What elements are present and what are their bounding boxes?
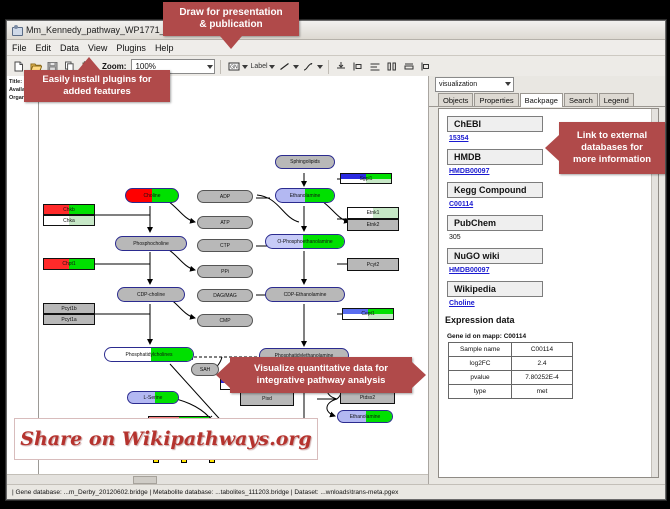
align-left-icon[interactable] (351, 59, 366, 74)
callout-plugins: Easily install plugins for added feature… (24, 70, 170, 102)
node-ethanolamine-right[interactable]: Ethanolamine (337, 410, 393, 423)
node-cdp-ethanolamine[interactable]: CDP-Ethanolamine (265, 287, 345, 302)
node-pisd[interactable]: Pisd (240, 392, 294, 406)
chevron-down-icon (207, 65, 213, 69)
table-cell-value: 2.4 (512, 357, 573, 371)
db-value-pubchem: 305 (449, 234, 658, 241)
tab-properties[interactable]: Properties (474, 93, 518, 106)
callout-link-databases: Link to external databases for more info… (559, 122, 665, 174)
line-dropdown[interactable] (277, 59, 299, 74)
node-label: Pcyt1a (61, 317, 76, 323)
node-cmp[interactable]: CMP (197, 314, 253, 327)
node-label: Chka (63, 218, 75, 224)
node-label: PPi (221, 269, 229, 275)
db-header-wikipedia: Wikipedia (447, 281, 543, 297)
side-panel-tabs: Objects Properties Backpage Search Legen… (429, 92, 665, 107)
node-label: Pcyt2 (367, 262, 380, 268)
datanode-icon[interactable]: GN (226, 59, 241, 74)
align-top-icon[interactable] (334, 59, 349, 74)
callout-visualize-line1: Visualize quantitative data for (254, 363, 388, 375)
node-ppi[interactable]: PPi (197, 265, 253, 278)
node-label: CDP-Ethanolamine (284, 292, 327, 298)
table-row: log2FC 2.4 (449, 357, 573, 371)
callout-link-line3: more information (573, 154, 651, 166)
interaction-dropdown[interactable] (301, 59, 323, 74)
expression-table: Sample name C00114 log2FC 2.4 pvalue 7.8… (448, 342, 573, 399)
node-chkb[interactable]: Chkb (43, 204, 95, 215)
tab-backpage[interactable]: Backpage (520, 93, 563, 107)
node-label: Etnk2 (367, 222, 380, 228)
menu-item-view[interactable]: View (88, 43, 107, 53)
menu-item-data[interactable]: Data (60, 43, 79, 53)
node-sphingolipids[interactable]: Sphingolipids (275, 155, 335, 169)
node-phosphatidylcholines[interactable]: Phosphatidylcholines (104, 347, 194, 362)
db-header-pubchem: PubChem (447, 215, 543, 231)
chevron-down-icon (505, 82, 511, 86)
callout-link-line2: databases for (581, 142, 643, 154)
node-label: Pcyt1b (61, 306, 76, 312)
table-row: pvalue 7.80252E-4 (449, 371, 573, 385)
callout-plugins-line2: added features (63, 86, 131, 98)
table-cell-key: log2FC (449, 357, 512, 371)
callout-plugins-arrow (78, 57, 100, 70)
node-etnk2[interactable]: Etnk2 (347, 219, 399, 231)
menu-item-plugins[interactable]: Plugins (116, 43, 146, 53)
visualization-value: visualization (439, 81, 477, 88)
tab-legend[interactable]: Legend (599, 93, 634, 106)
callout-share: Share on Wikipathways.org (14, 418, 318, 460)
node-l-serine-left[interactable]: L-Serine (127, 391, 179, 404)
node-label: Phosphocholine (133, 241, 169, 247)
node-ethanolamine[interactable]: Ethanolamine (275, 188, 335, 203)
node-chpt1[interactable]: Chpt1 (43, 258, 95, 270)
node-label: DAG/MAG (213, 293, 237, 299)
node-chka[interactable]: Chka (43, 215, 95, 226)
toolbar-separator (328, 60, 329, 74)
node-etnk1[interactable]: Etnk1 (347, 207, 399, 219)
node-label: Pisd (262, 396, 272, 402)
align-center-icon[interactable] (402, 59, 417, 74)
node-choline-top[interactable]: Choline (125, 188, 179, 203)
callout-visualize-arrow-right (412, 362, 426, 388)
node-phosphocholine[interactable]: Phosphocholine (115, 236, 187, 251)
menu-item-file[interactable]: File (12, 43, 27, 53)
node-label: ATP (220, 220, 229, 226)
table-row: type met (449, 385, 573, 399)
db-header-hmdb: HMDB (447, 149, 543, 165)
node-label: CMP (219, 318, 230, 324)
menu-item-help[interactable]: Help (155, 43, 174, 53)
visualization-row: visualization (429, 76, 665, 92)
callout-link-arrow (545, 135, 559, 161)
gene-id-label: Gene id on mapp: C00114 (447, 333, 658, 340)
node-label: ADP (220, 194, 230, 200)
table-cell-value: 7.80252E-4 (512, 371, 573, 385)
chevron-down-icon[interactable] (317, 65, 323, 69)
node-sgpl1[interactable]: Sgpl1 (340, 173, 392, 184)
status-bar: | Gene database: ...m_Derby_20120602.bri… (7, 484, 665, 499)
node-label: Chpt1 (62, 261, 75, 267)
node-adp[interactable]: ADP (197, 190, 253, 203)
callout-share-text: Share on Wikipathways.org (20, 428, 311, 450)
chevron-down-icon[interactable] (293, 65, 299, 69)
tab-search[interactable]: Search (564, 93, 598, 106)
toolbar-separator (220, 60, 221, 74)
node-label: Cept1 (361, 311, 374, 317)
node-o-phosphoethanolamine[interactable]: O-Phosphoethanolamine (265, 234, 345, 249)
menu-bar: File Edit Data View Plugins Help (7, 40, 665, 56)
node-label: Ethanolamine (350, 414, 381, 420)
callout-visualize: Visualize quantitative data for integrat… (230, 357, 412, 393)
node-label: Sphingolipids (290, 159, 320, 165)
visualization-select[interactable]: visualization (435, 77, 514, 92)
node-label: O-Phosphoethanolamine (277, 239, 332, 245)
chevron-down-icon[interactable] (269, 65, 275, 69)
canvas-horizontal-scrollbar[interactable] (7, 474, 428, 484)
node-label: Phosphatidylcholines (126, 352, 173, 358)
db-link-nugo[interactable]: HMDB00097 (449, 267, 658, 274)
title-bar: Mm_Kennedy_pathway_WP1771_45176.gpml (7, 21, 665, 40)
label-dropdown-label: Label (250, 63, 267, 70)
node-label: Ethanolamine (290, 193, 321, 199)
callout-link-line1: Link to external (577, 130, 647, 142)
node-ctp[interactable]: CTP (197, 239, 253, 252)
node-pcyt1a[interactable]: Pcyt1a (43, 314, 95, 325)
db-link-kegg[interactable]: C00114 (449, 201, 658, 208)
db-header-chebi: ChEBI (447, 116, 543, 132)
node-label: SAH (200, 367, 210, 373)
node-pcyt2[interactable]: Pcyt2 (347, 258, 399, 271)
table-row: Sample name C00114 (449, 343, 573, 357)
label-dropdown[interactable]: Label (250, 63, 274, 70)
tab-objects[interactable]: Objects (438, 93, 473, 106)
align-width-icon[interactable] (385, 59, 400, 74)
node-label: L-Serine (144, 395, 163, 401)
node-cept1[interactable]: Cept1 (342, 308, 394, 320)
svg-text:GN: GN (230, 65, 238, 71)
callout-draw-line1: Draw for presentation (179, 7, 282, 19)
expression-data-heading: Expression data (445, 315, 658, 325)
db-header-kegg: Kegg Compound (447, 182, 543, 198)
table-cell-value: C00114 (512, 343, 573, 357)
table-cell-key: Sample name (449, 343, 512, 357)
callout-draw-line2: & publication (199, 19, 262, 31)
node-sah[interactable]: SAH (191, 363, 219, 376)
node-label: CDP-choline (137, 292, 165, 298)
datanode-dropdown[interactable]: GN (226, 59, 248, 74)
align-stack-icon[interactable] (368, 59, 383, 74)
table-cell-key: pvalue (449, 371, 512, 385)
pathvisio-icon (11, 25, 22, 36)
node-label: Etnk1 (367, 210, 380, 216)
callout-visualize-arrow-left (216, 362, 230, 388)
table-cell-key: type (449, 385, 512, 399)
db-header-nugo: NuGO wiki (447, 248, 543, 264)
node-label: CTP (220, 243, 230, 249)
node-pcyt1b[interactable]: Pcyt1b (43, 303, 95, 314)
callout-draw: Draw for presentation & publication (163, 2, 299, 36)
scrollbar-thumb[interactable] (133, 476, 157, 484)
line-icon[interactable] (277, 59, 292, 74)
node-cdp-choline[interactable]: CDP-choline (117, 287, 185, 302)
screenshot-root: Mm_Kennedy_pathway_WP1771_45176.gpml Fil… (0, 0, 670, 509)
interaction-icon[interactable] (301, 59, 316, 74)
node-label: Ptdss2 (360, 395, 375, 401)
align-right-icon[interactable] (419, 59, 434, 74)
node-label: Choline (144, 193, 161, 199)
node-dag-mag[interactable]: DAG/MAG (197, 289, 253, 302)
chevron-down-icon[interactable] (242, 65, 248, 69)
callout-draw-arrow (220, 36, 242, 49)
db-link-wikipedia[interactable]: Choline (449, 300, 658, 307)
callout-visualize-line2: integrative pathway analysis (257, 375, 386, 387)
node-atp[interactable]: ATP (197, 216, 253, 229)
status-text: | Gene database: ...m_Derby_20120602.bri… (12, 489, 398, 496)
table-cell-value: met (512, 385, 573, 399)
callout-plugins-line1: Easily install plugins for (42, 74, 151, 86)
node-label: Chkb (63, 207, 75, 213)
menu-item-edit[interactable]: Edit (36, 43, 52, 53)
node-label: Sgpl1 (360, 176, 373, 182)
